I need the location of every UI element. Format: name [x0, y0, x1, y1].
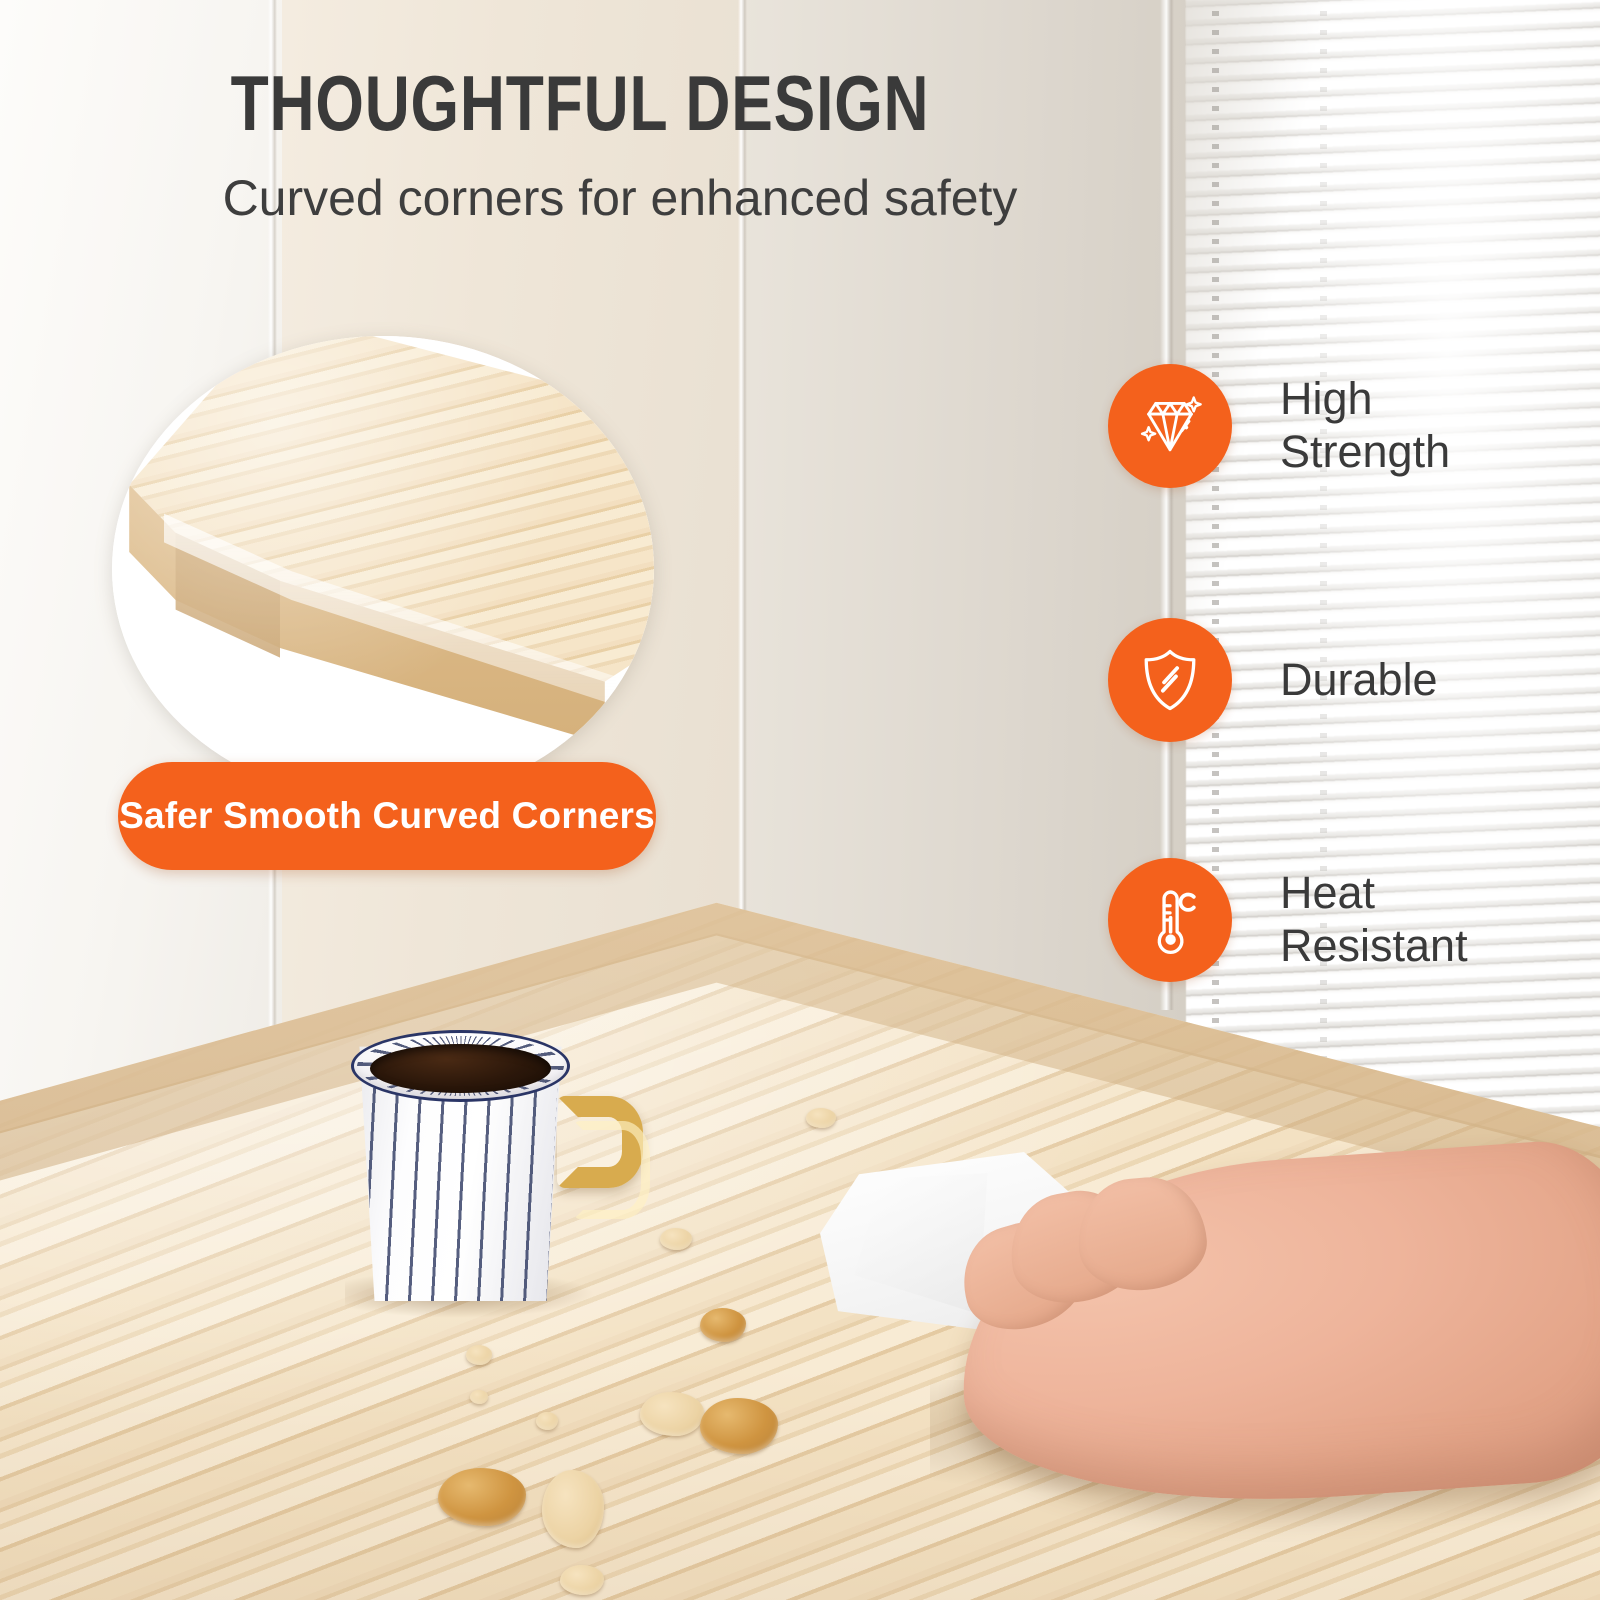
feature-item-high-strength: High Strength: [1108, 364, 1450, 488]
feature-label-durable: Durable: [1280, 654, 1438, 707]
shield-icon: [1108, 618, 1232, 742]
feature-item-durable: Durable: [1108, 618, 1438, 742]
coffee-liquid: [370, 1044, 551, 1093]
product-feature-graphic: THOUGHTFUL DESIGN Curved corners for enh…: [0, 0, 1600, 1600]
curved-corners-badge: Safer Smooth Curved Corners: [118, 762, 656, 870]
feature-item-heat-resistant: Heat Resistant: [1108, 858, 1468, 982]
curved-corners-badge-label: Safer Smooth Curved Corners: [119, 795, 655, 837]
mug-stripes: [353, 1088, 568, 1301]
feature-label-heat-resistant: Heat Resistant: [1280, 867, 1468, 972]
thermometer-icon: [1108, 858, 1232, 982]
coffee-mug: [345, 1018, 645, 1318]
page-title: THOUGHTFUL DESIGN: [116, 64, 1044, 142]
page-subtitle: Curved corners for enhanced safety: [0, 170, 1240, 228]
diamond-icon: [1108, 364, 1232, 488]
inset-sheen: [112, 336, 654, 802]
mug-handle: [557, 1096, 643, 1188]
feature-label-high-strength: High Strength: [1280, 373, 1450, 478]
corner-closeup-inset: [112, 336, 654, 802]
